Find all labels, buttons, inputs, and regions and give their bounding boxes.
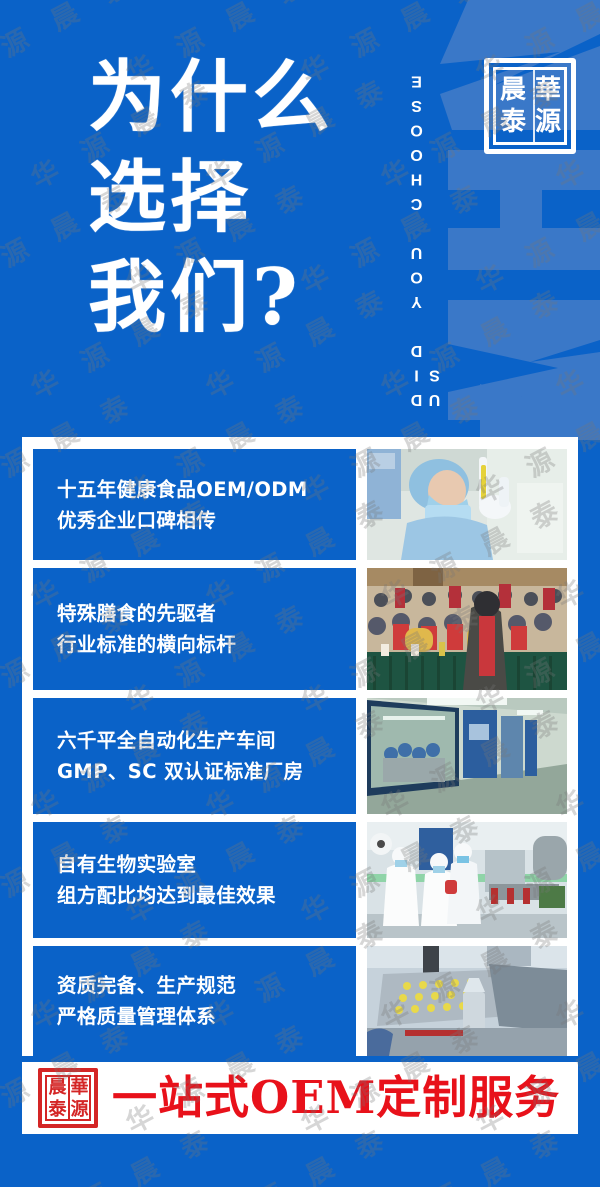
feature-row[interactable]: 特殊膳食的先驱者 行业标准的横向标杆 (33, 568, 567, 690)
feature-line-2: GMP、SC 双认证标准厂房 (57, 756, 356, 787)
cleanroom-corridor-viewing-window-photo (367, 698, 567, 814)
seal-char-yuan: 源 (535, 106, 561, 138)
cta-text: 一站式OEM定制服务 (112, 1072, 560, 1124)
content-frame: 十五年健康食品OEM/ODM 优秀企业口碑相传 (22, 437, 578, 1056)
blister-packing-machine-yellow-capsules-photo (367, 946, 567, 1056)
feature-line-1: 特殊膳食的先驱者 (57, 598, 356, 629)
feature-row-list: 十五年健康食品OEM/ODM 优秀企业口碑相传 (33, 449, 567, 1056)
conference-audience-red-scarves-photo (367, 568, 567, 690)
feature-text-card: 十五年健康食品OEM/ODM 优秀企业口碑相传 (33, 449, 356, 560)
company-seal-inner: 晨 泰 華 源 (493, 67, 567, 145)
seal-char-hua: 華 (535, 74, 561, 106)
feature-line-2: 行业标准的横向标杆 (57, 629, 356, 660)
seal-red-char-tai: 泰 (49, 1099, 67, 1121)
seal-char-tai: 泰 (500, 106, 526, 138)
bottom-cta-banner[interactable]: 晨 泰 華 源 一站式OEM定制服务 (22, 1062, 578, 1134)
seal-column-right: 華 源 (533, 70, 561, 142)
feature-row[interactable]: 自有生物实验室 组方配比均达到最佳效果 (33, 822, 567, 938)
feature-text-card: 六千平全自动化生产车间 GMP、SC 双认证标准厂房 (33, 698, 356, 814)
lab-technician-inspecting-vial-photo (367, 449, 567, 560)
feature-text-card: 特殊膳食的先驱者 行业标准的横向标杆 (33, 568, 356, 690)
feature-row[interactable]: 十五年健康食品OEM/ODM 优秀企业口碑相传 (33, 449, 567, 560)
seal-column-left: 晨 泰 (500, 70, 526, 142)
feature-text-card: 自有生物实验室 组方配比均达到最佳效果 (33, 822, 356, 938)
feature-line-2: 优秀企业口碑相传 (57, 505, 356, 536)
feature-line-1: 自有生物实验室 (57, 849, 356, 880)
poster-root: 为什么 选择 我们? DID YOU CHOOSE US 晨 泰 華 源 (0, 0, 600, 1187)
headline-line-1: 为什么 (88, 48, 334, 148)
headline-line-3: 我们? (88, 248, 334, 348)
seal-red-column-right: 華 源 (68, 1077, 89, 1121)
seal-char-chen: 晨 (500, 74, 526, 106)
vertical-english-tagline: DID YOU CHOOSE US (408, 18, 442, 408)
company-seal-logo: 晨 泰 華 源 (484, 58, 576, 154)
feature-line-2: 严格质量管理体系 (57, 1001, 356, 1032)
company-seal-red-inner: 晨 泰 華 源 (45, 1075, 91, 1121)
poster-header: 为什么 选择 我们? DID YOU CHOOSE US 晨 泰 華 源 (0, 0, 600, 437)
feature-row[interactable]: 六千平全自动化生产车间 GMP、SC 双认证标准厂房 (33, 698, 567, 814)
seal-red-char-yuan: 源 (71, 1099, 89, 1121)
seal-red-char-chen: 晨 (49, 1077, 67, 1099)
feature-line-1: 六千平全自动化生产车间 (57, 725, 356, 756)
feature-row[interactable]: 资质完备、生产规范 严格质量管理体系 (33, 946, 567, 1056)
feature-line-2: 组方配比均达到最佳效果 (57, 880, 356, 911)
headline-line-2: 选择 (88, 148, 334, 248)
company-seal-logo-red: 晨 泰 華 源 (38, 1068, 98, 1128)
feature-line-1: 十五年健康食品OEM/ODM (57, 474, 356, 505)
feature-line-1: 资质完备、生产规范 (57, 970, 356, 1001)
seal-red-column-left: 晨 泰 (47, 1077, 68, 1121)
page-title: 为什么 选择 我们? (88, 48, 334, 348)
feature-text-card: 资质完备、生产规范 严格质量管理体系 (33, 946, 356, 1056)
white-coat-workers-production-line-photo (367, 822, 567, 938)
seal-red-char-hua: 華 (71, 1077, 89, 1099)
